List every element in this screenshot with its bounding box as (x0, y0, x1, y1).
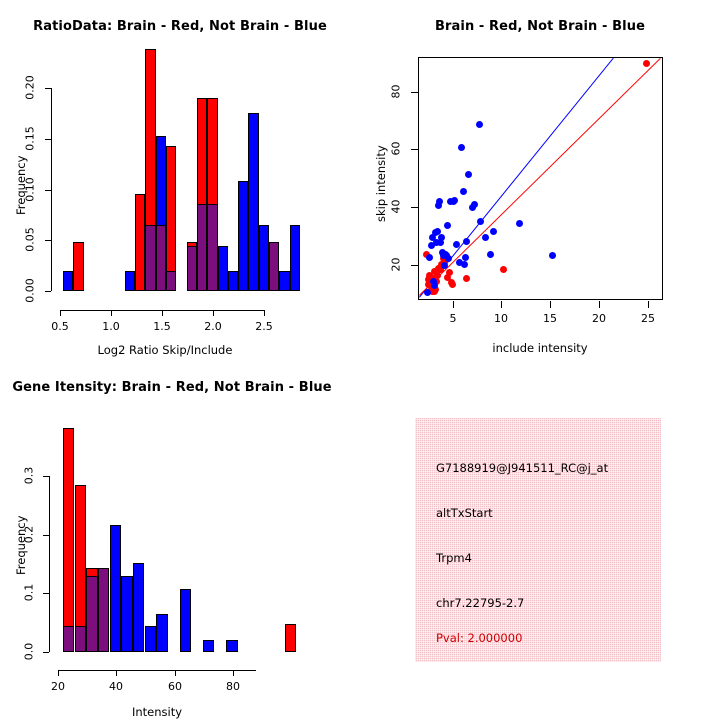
ratio-hist-bar-overlap (187, 246, 197, 291)
gene-ytick-0 (43, 652, 49, 653)
gene-xtick-1 (116, 670, 117, 676)
scatter-point (516, 220, 523, 227)
gene-hist-bar (145, 626, 157, 652)
scatter-ylabel: skip intensity (374, 145, 388, 222)
scatter-xtick-3 (599, 301, 600, 308)
ratio-hist-bar (125, 271, 135, 291)
gene-hist-bar-overlap (98, 568, 110, 652)
gene-hist-bar (226, 640, 238, 652)
gene-hist-bar (180, 589, 192, 652)
scatter-point (453, 241, 460, 248)
ratio-xtick-label-2: 1.5 (146, 320, 178, 333)
scatter-ytick-label-1: 40 (390, 193, 403, 221)
ratio-hist-bar (259, 225, 269, 291)
xtick-1 (111, 310, 112, 316)
scatter-point (463, 238, 470, 245)
gene-xtick-3 (233, 670, 234, 676)
scatter-point (436, 198, 443, 205)
scatter-point (444, 222, 451, 229)
scatter-ytick-label-2: 60 (390, 135, 403, 163)
scatter-point (445, 255, 452, 262)
ratio-ytick-label-4: 0.20 (24, 72, 37, 104)
ratio-hist-bar-overlap (207, 204, 217, 291)
scatter-point (549, 252, 556, 259)
scatter-point (463, 275, 470, 282)
ratio-hist-bar-overlap (197, 204, 207, 291)
scatter-ytick-3 (411, 92, 418, 93)
scatter-point (500, 266, 507, 273)
scatter-xtick-0 (453, 301, 454, 308)
gene-hist-bar (63, 428, 75, 652)
scatter-ytick-label-3: 80 (390, 78, 403, 106)
info-gene-symbol: Trpm4 (436, 551, 472, 565)
gene-hist-bar (133, 563, 145, 652)
scatter-xtick-2 (550, 301, 551, 308)
ratio-hist-bar-overlap (145, 225, 155, 291)
scatter-xlabel: include intensity (420, 341, 660, 355)
xtick-2 (162, 310, 163, 316)
xtick-4 (264, 310, 265, 316)
ratio-hist-bar (290, 225, 300, 291)
scatter-point (465, 171, 472, 178)
ratio-hist-bar (63, 271, 73, 291)
ratio-histogram-title: RatioData: Brain - Red, Not Brain - Blue (0, 19, 360, 34)
scatter-point (490, 228, 497, 235)
ratio-hist-bar-overlap (156, 225, 166, 291)
gene-ytick-2 (43, 535, 49, 536)
ratio-xtick-label-1: 1.0 (95, 320, 127, 333)
gene-hist-bar-overlap (86, 576, 98, 652)
ratio-ytick-label-3: 0.15 (24, 123, 37, 155)
scatter-point (446, 269, 453, 276)
scatter-ytick-label-0: 20 (390, 251, 403, 279)
ytick-0 (45, 291, 51, 292)
scatter-point (471, 201, 478, 208)
ratio-histogram-xlabel: Log2 Ratio Skip/Include (50, 343, 280, 357)
scatter-xtick-label-3: 20 (584, 312, 614, 325)
scatter-xtick-label-4: 25 (633, 312, 663, 325)
scatter-point (426, 254, 433, 261)
scatter-point (461, 261, 468, 268)
scatter-ytick-1 (411, 207, 418, 208)
gene-hist-bar (121, 576, 133, 652)
scatter-point (424, 289, 431, 296)
ratio-histogram-yaxis (51, 88, 52, 291)
ytick-4 (45, 88, 51, 89)
ratio-hist-bar (279, 271, 289, 291)
ytick-3 (45, 139, 51, 140)
panel-intensity-scatter: Brain - Red, Not Brain - Blue skip inten… (360, 0, 720, 360)
scatter-xtick-1 (501, 301, 502, 308)
ratio-hist-bar (238, 181, 248, 291)
gene-histogram-title: Gene Itensity: Brain - Red, Not Brain - … (0, 380, 352, 395)
scatter-point (477, 218, 484, 225)
scatter-point (438, 234, 445, 241)
scatter-point (476, 121, 483, 128)
info-pvalue: Pval: 2.000000 (436, 631, 522, 645)
info-location: chr7.22795-2.7 (436, 596, 524, 610)
ratio-xtick-label-0: 0.5 (44, 320, 76, 333)
ratio-hist-bar (166, 146, 176, 291)
ratio-histogram-bars (58, 47, 305, 291)
gene-ytick-label-1: 0.1 (23, 580, 36, 606)
gene-ytick-label-2: 0.2 (23, 522, 36, 548)
xtick-0 (60, 310, 61, 316)
gene-hist-bar (156, 614, 168, 652)
ratio-ytick-label-2: 0.10 (24, 174, 37, 206)
ytick-2 (45, 190, 51, 191)
gene-xtick-2 (175, 670, 176, 676)
scatter-point (460, 188, 467, 195)
info-event-type: altTxStart (436, 506, 493, 520)
gene-histogram-yaxis (49, 476, 50, 652)
ratio-xtick-label-3: 2.0 (197, 320, 229, 333)
gene-histogram-xlabel: Intensity (62, 705, 252, 719)
gene-ytick-3 (43, 476, 49, 477)
panel-ratio-histogram: RatioData: Brain - Red, Not Brain - Blue… (0, 0, 360, 360)
probeset-info-panel: G7188919@J941511_RC@j_at altTxStart Trpm… (415, 418, 661, 662)
scatter-point (643, 60, 650, 67)
gene-ytick-label-0: 0.0 (23, 639, 36, 665)
gene-xtick-label-3: 80 (218, 680, 248, 693)
panel-gene-intensity-histogram: Gene Itensity: Brain - Red, Not Brain - … (0, 360, 360, 720)
scatter-xtick-label-1: 10 (486, 312, 516, 325)
gene-hist-bar (285, 624, 297, 652)
scatter-brain-fit (419, 58, 661, 296)
scatter-plot-area (418, 57, 663, 300)
gene-ytick-label-3: 0.3 (23, 463, 36, 489)
gene-ytick-1 (43, 593, 49, 594)
ratio-hist-bar (73, 242, 83, 291)
scatter-point (458, 144, 465, 151)
xtick-3 (213, 310, 214, 316)
ratio-hist-bar-overlap (166, 271, 176, 291)
info-probe-id: G7188919@J941511_RC@j_at (436, 461, 608, 475)
ratio-ytick-label-1: 0.05 (24, 224, 37, 256)
gene-xtick-label-2: 60 (160, 680, 190, 693)
scatter-point (482, 234, 489, 241)
scatter-ytick-0 (411, 265, 418, 266)
ratio-hist-bar (248, 113, 258, 291)
ytick-1 (45, 240, 51, 241)
gene-hist-bar-overlap (63, 626, 75, 652)
scatter-title: Brain - Red, Not Brain - Blue (360, 19, 720, 34)
gene-hist-bar (203, 640, 215, 652)
ratio-ytick-label-0: 0.00 (24, 275, 37, 307)
gene-hist-bar (110, 525, 122, 652)
scatter-xtick-4 (648, 301, 649, 308)
ratio-hist-bar (218, 246, 228, 291)
gene-histogram-bars (57, 426, 302, 652)
scatter-xtick-label-0: 5 (438, 312, 468, 325)
ratio-xtick-label-4: 2.5 (248, 320, 280, 333)
gene-xtick-0 (58, 670, 59, 676)
scatter-point (462, 254, 469, 261)
ratio-hist-bar (135, 194, 145, 291)
scatter-xtick-label-2: 15 (535, 312, 565, 325)
gene-histogram-xaxis (58, 670, 256, 671)
gene-hist-bar-overlap (75, 626, 87, 652)
scatter-point (449, 281, 456, 288)
figure-canvas: RatioData: Brain - Red, Not Brain - Blue… (0, 0, 720, 720)
ratio-hist-bar (228, 271, 238, 291)
scatter-point (451, 197, 458, 204)
scatter-point (487, 251, 494, 258)
ratio-hist-bar-overlap (269, 242, 279, 291)
scatter-ytick-2 (411, 149, 418, 150)
gene-xtick-label-1: 40 (101, 680, 131, 693)
gene-xtick-label-0: 20 (43, 680, 73, 693)
